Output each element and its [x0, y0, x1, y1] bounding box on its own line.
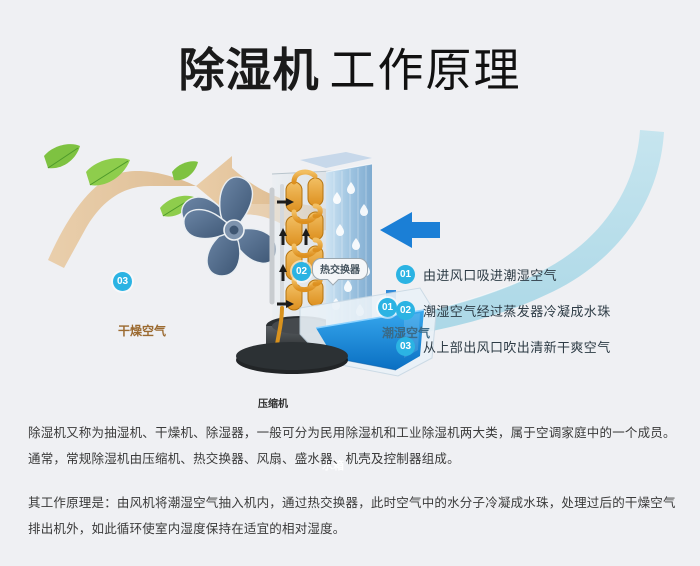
legend-list: 01 由进风口吸进潮湿空气 02 潮湿空气经过蒸发器冷凝成水珠 03 从上部出风… [396, 256, 611, 364]
legend-item: 01 由进风口吸进潮湿空气 [396, 256, 611, 292]
legend-badge-02: 02 [396, 301, 415, 320]
description-paragraph-1: 除湿机又称为抽湿机、干燥机、除湿器，一般可分为民用除湿机和工业除湿机两大类，属于… [28, 420, 676, 472]
diagram-label-compressor: 压缩机 [258, 395, 288, 410]
legend-label-03: 从上部出风口吹出清新干爽空气 [423, 337, 611, 356]
legend-badge-03: 03 [396, 337, 415, 356]
airflow-arrow-icon [380, 212, 440, 248]
legend-item: 02 潮湿空气经过蒸发器冷凝成水珠 [396, 292, 611, 328]
diagram-label-dry-air: 干燥空气 [118, 322, 166, 339]
machine-base [236, 342, 348, 374]
diagram-badge-dry-air: 03 [113, 272, 132, 291]
page-title-part1: 除湿机 [179, 44, 320, 96]
page-title-part2: 工作原理 [330, 44, 522, 96]
description-block: 除湿机又称为抽湿机、干燥机、除湿器，一般可分为民用除湿机和工业除湿机两大类，属于… [28, 420, 676, 542]
diagram-label-heat-exchanger: 热交换器 [312, 258, 368, 280]
legend-label-01: 由进风口吸进潮湿空气 [423, 265, 557, 284]
page-title: 除湿机工作原理 [0, 34, 700, 100]
legend-label-02: 潮湿空气经过蒸发器冷凝成水珠 [423, 301, 611, 320]
description-paragraph-2: 其工作原理是：由风机将潮湿空气抽入机内，通过热交换器，此时空气中的水分子冷凝成水… [28, 490, 676, 542]
legend-item: 03 从上部出风口吹出清新干爽空气 [396, 328, 611, 364]
diagram-badge-heat-exchanger: 02 [292, 262, 311, 281]
legend-badge-01: 01 [396, 265, 415, 284]
diagram-badge-humid-air: 01 [378, 298, 397, 317]
